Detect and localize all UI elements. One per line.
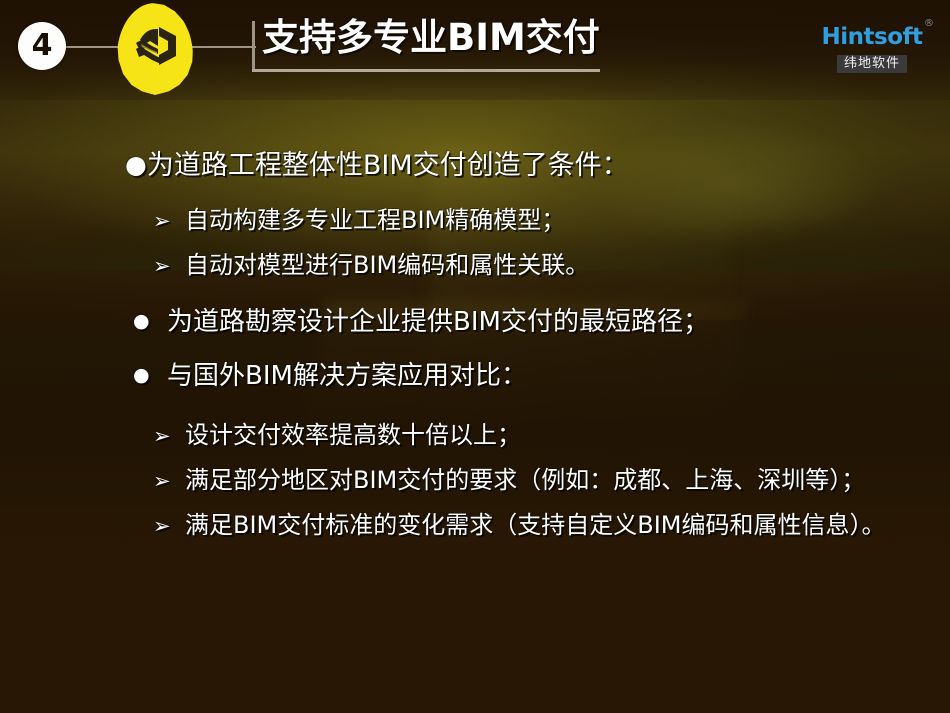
slide-body: ●为道路工程整体性BIM交付创造了条件： ➢自动构建多专业工程BIM精确模型； … bbox=[0, 100, 950, 713]
bullet-level2-1: ➢自动构建多专业工程BIM精确模型； bbox=[153, 207, 565, 235]
brand-name-text: Hintsoft ® bbox=[822, 26, 923, 49]
bullet-level2-5: ➢满足BIM交付标准的变化需求（支持自定义BIM编码和属性信息）。 bbox=[153, 512, 886, 540]
bullet-marker-dot: ● bbox=[133, 311, 167, 333]
slide-number-badge: 4 bbox=[18, 22, 66, 70]
brand-name-label: Hintsoft bbox=[822, 24, 923, 50]
company-logo: Hintsoft ® 纬地软件 bbox=[812, 26, 932, 73]
bullet-level1-1: ●为道路工程整体性BIM交付创造了条件： bbox=[125, 150, 629, 181]
bullet-marker-arrow-icon: ➢ bbox=[153, 209, 185, 233]
bullet-marker-arrow-icon: ➢ bbox=[153, 469, 185, 493]
bullet-level2-4: ➢满足部分地区对BIM交付的要求（例如：成都、上海、深圳等）； bbox=[153, 467, 865, 495]
bullet-text: 满足部分地区对BIM交付的要求（例如：成都、上海、深圳等）； bbox=[185, 466, 865, 494]
bullet-level2-2: ➢自动对模型进行BIM编码和属性关联。 bbox=[153, 252, 589, 280]
bullet-text: 自动对模型进行BIM编码和属性关联。 bbox=[185, 251, 589, 279]
bullet-marker-dot: ● bbox=[133, 365, 167, 387]
title-underline-rule bbox=[252, 69, 600, 72]
bullet-text: 为道路工程整体性BIM交付创造了条件： bbox=[147, 150, 629, 181]
bullet-level1-2: ●为道路勘察设计企业提供BIM交付的最短路径； bbox=[133, 308, 709, 338]
bullet-text: 自动构建多专业工程BIM精确模型； bbox=[185, 206, 565, 234]
bullet-level1-3: ●与国外BIM解决方案应用对比： bbox=[133, 362, 527, 392]
registered-trademark-icon: ® bbox=[924, 19, 934, 29]
handshake-cube-logo-icon bbox=[132, 24, 180, 70]
bullet-marker-arrow-icon: ➢ bbox=[153, 254, 185, 278]
bullet-text: 设计交付效率提高数十倍以上； bbox=[185, 421, 521, 449]
bullet-marker-arrow-icon: ➢ bbox=[153, 514, 185, 538]
slide-number-label: 4 bbox=[32, 31, 53, 61]
bullet-text: 满足BIM交付标准的变化需求（支持自定义BIM编码和属性信息）。 bbox=[185, 511, 886, 539]
bullet-text: 为道路勘察设计企业提供BIM交付的最短路径； bbox=[167, 307, 709, 337]
bullet-marker-dot: ● bbox=[125, 150, 147, 179]
brand-chinese-label: 纬地软件 bbox=[837, 55, 907, 73]
slide-header: 4 支持多专业BIM交付 Hintsoft ® 纬地软件 bbox=[0, 0, 950, 100]
page-title: 支持多专业BIM交付 bbox=[262, 11, 600, 65]
bullet-level2-3: ➢设计交付效率提高数十倍以上； bbox=[153, 422, 521, 450]
bullet-text: 与国外BIM解决方案应用对比： bbox=[167, 361, 527, 391]
presentation-slide: 4 支持多专业BIM交付 Hintsoft ® 纬地软件 bbox=[0, 0, 950, 713]
title-left-rule bbox=[252, 21, 255, 71]
bullet-marker-arrow-icon: ➢ bbox=[153, 424, 185, 448]
